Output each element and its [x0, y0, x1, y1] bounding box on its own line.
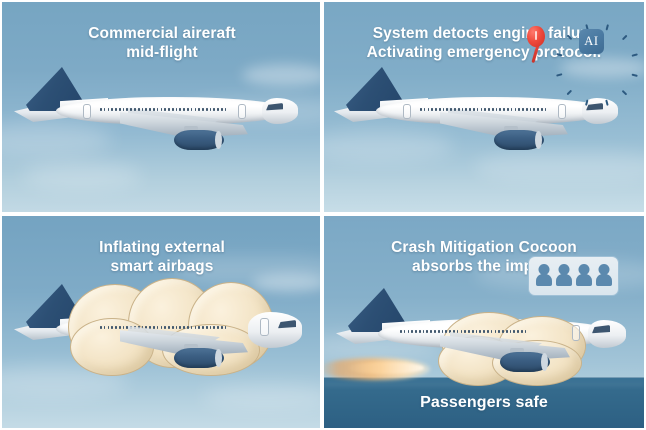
- cabin-window: [477, 108, 479, 111]
- cabin-window: [521, 330, 523, 333]
- cabin-window: [100, 326, 102, 329]
- cabin-window: [472, 330, 474, 333]
- cabin-window: [435, 108, 437, 111]
- cabin-window: [161, 326, 163, 329]
- cabin-window: [191, 108, 193, 111]
- cabin-windows: [100, 326, 226, 329]
- cabin-window: [198, 326, 200, 329]
- cabin-window: [458, 108, 460, 111]
- passenger-icon: [556, 264, 572, 289]
- cabin-window: [491, 330, 493, 333]
- cabin-window: [164, 108, 166, 111]
- panel-4-crash-mitigation-cocoon: Crash Mitigation Cocoon absorbs the impa…: [324, 216, 644, 428]
- cabin-window: [533, 108, 535, 111]
- cabin-window: [518, 108, 520, 111]
- cabin-door: [558, 104, 566, 119]
- cabin-window: [537, 108, 539, 111]
- passenger-body: [556, 274, 572, 286]
- cabin-window: [172, 108, 174, 111]
- cabin-window: [507, 108, 509, 111]
- cabin-window: [473, 108, 475, 111]
- airliner: [12, 274, 312, 384]
- cabin-window: [462, 108, 464, 111]
- cabin-window: [499, 108, 501, 111]
- cloud-shape: [22, 162, 142, 190]
- cabin-window: [502, 330, 504, 333]
- storyboard-image: Commercial aireraft mid-flight System de…: [0, 0, 646, 430]
- cabin-window: [187, 326, 189, 329]
- passenger-status-panel: [528, 256, 619, 296]
- engine-intake-lip: [535, 131, 542, 149]
- panel-1-commercial-aircraft: Commercial aireraft mid-flight: [2, 2, 322, 214]
- cabin-window: [225, 326, 227, 329]
- cabin-window: [202, 326, 204, 329]
- cabin-window: [438, 330, 440, 333]
- cabin-window: [468, 330, 470, 333]
- cabin-window: [195, 326, 197, 329]
- cabin-window: [411, 330, 413, 333]
- cabin-window: [446, 108, 448, 111]
- cabin-window: [206, 108, 208, 111]
- cabin-window: [172, 326, 174, 329]
- cabin-window: [424, 108, 426, 111]
- airliner: [332, 64, 632, 164]
- cabin-window: [461, 330, 463, 333]
- cabin-windows: [400, 330, 526, 333]
- cabin-window: [487, 330, 489, 333]
- cabin-window: [157, 326, 159, 329]
- cabin-window: [111, 108, 113, 111]
- cabin-window: [476, 330, 478, 333]
- cabin-window: [439, 108, 441, 111]
- cabin-window: [506, 330, 508, 333]
- cabin-window: [145, 108, 147, 111]
- cabin-window: [545, 108, 547, 111]
- cabin-window: [161, 108, 163, 111]
- cabin-window: [225, 108, 227, 111]
- panel-3-caption: Inflating external smart airbags: [2, 238, 322, 276]
- cabin-windows: [100, 108, 226, 111]
- cabin-window: [138, 108, 140, 111]
- cabin-window: [496, 108, 498, 111]
- cabin-window: [404, 330, 406, 333]
- engine-intake-lip: [541, 353, 548, 371]
- cabin-window: [221, 108, 223, 111]
- passenger-icon: [576, 264, 592, 289]
- cabin-window: [513, 330, 515, 333]
- cabin-window: [168, 108, 170, 111]
- cabin-window: [428, 108, 430, 111]
- cabin-window: [525, 330, 527, 333]
- cabin-window: [157, 108, 159, 111]
- cabin-window: [153, 108, 155, 111]
- cabin-door: [83, 104, 91, 119]
- cabin-window: [115, 108, 117, 111]
- airliner: [12, 64, 302, 164]
- cabin-door: [572, 325, 580, 341]
- cabin-window: [183, 108, 185, 111]
- cabin-window: [119, 326, 121, 329]
- cabin-window: [484, 108, 486, 111]
- cabin-window: [142, 108, 144, 111]
- panel-divider-horizontal: [0, 212, 646, 216]
- cabin-window: [445, 330, 447, 333]
- cabin-window: [168, 326, 170, 329]
- cabin-window: [100, 108, 102, 111]
- cabin-window: [469, 108, 471, 111]
- cabin-window: [434, 330, 436, 333]
- panel-4-bottom-caption: Passengers safe: [324, 393, 644, 412]
- passenger-body: [576, 274, 592, 286]
- engine-intake-lip: [215, 131, 222, 149]
- cabin-window: [465, 108, 467, 111]
- cabin-window: [134, 108, 136, 111]
- cabin-window: [492, 108, 494, 111]
- cabin-window: [119, 108, 121, 111]
- cabin-window: [217, 108, 219, 111]
- cabin-window: [431, 108, 433, 111]
- cabin-window: [426, 330, 428, 333]
- cabin-window: [187, 108, 189, 111]
- cabin-window: [179, 108, 181, 111]
- cabin-window: [419, 330, 421, 333]
- passenger-icon: [596, 264, 612, 289]
- engine-intake-lip: [215, 349, 222, 367]
- cabin-window: [179, 326, 181, 329]
- cabin-window: [111, 326, 113, 329]
- cabin-window: [183, 326, 185, 329]
- cabin-window: [526, 108, 528, 111]
- cabin-window: [195, 108, 197, 111]
- cabin-window: [206, 326, 208, 329]
- cabin-window: [517, 330, 519, 333]
- cabin-window: [104, 326, 106, 329]
- cabin-window: [479, 330, 481, 333]
- ai-badge-label: AI: [584, 34, 598, 49]
- passenger-body: [596, 274, 612, 286]
- cabin-window: [149, 108, 151, 111]
- cabin-window: [423, 330, 425, 333]
- cabin-window: [515, 108, 517, 111]
- cabin-window: [442, 330, 444, 333]
- cabin-window: [481, 108, 483, 111]
- passenger-icon: [536, 264, 552, 289]
- cabin-window: [450, 108, 452, 111]
- cabin-window: [530, 108, 532, 111]
- panel-2-system-detects-failure: System detocts engine failure Activating…: [324, 2, 644, 214]
- cabin-windows: [420, 108, 546, 111]
- cabin-window: [126, 108, 128, 111]
- cabin-window: [210, 108, 212, 111]
- cabin-window: [164, 326, 166, 329]
- cabin-window: [213, 326, 215, 329]
- cabin-window: [495, 330, 497, 333]
- cabin-window: [130, 108, 132, 111]
- cabin-door: [260, 318, 269, 336]
- cloud-shape: [202, 384, 322, 410]
- panel-1-caption: Commercial aireraft mid-flight: [2, 24, 322, 62]
- panel-3-inflating-airbags: Inflating external smart airbags: [2, 216, 322, 428]
- cabin-window: [108, 326, 110, 329]
- cabin-window: [104, 108, 106, 111]
- cabin-window: [415, 330, 417, 333]
- cabin-window: [153, 326, 155, 329]
- ai-badge-icon: AI: [579, 29, 604, 54]
- cabin-window: [221, 326, 223, 329]
- cabin-door: [403, 104, 411, 119]
- cabin-window: [213, 108, 215, 111]
- cabin-window: [191, 326, 193, 329]
- cabin-window: [443, 108, 445, 111]
- nose-section-exposed: [248, 312, 302, 348]
- cabin-window: [522, 108, 524, 111]
- cabin-window: [176, 108, 178, 111]
- cabin-window: [176, 326, 178, 329]
- cabin-window: [126, 326, 128, 329]
- cabin-window: [430, 330, 432, 333]
- passenger-body: [536, 274, 552, 286]
- cabin-window: [115, 326, 117, 329]
- cabin-window: [454, 108, 456, 111]
- flame-core: [346, 362, 424, 374]
- cabin-window: [464, 330, 466, 333]
- cabin-window: [488, 108, 490, 111]
- cabin-window: [123, 108, 125, 111]
- cabin-window: [202, 108, 204, 111]
- cabin-window: [210, 326, 212, 329]
- alert-beacon-slot: [535, 31, 537, 40]
- cabin-window: [511, 108, 513, 111]
- cabin-window: [217, 326, 219, 329]
- cabin-window: [541, 108, 543, 111]
- cabin-window: [498, 330, 500, 333]
- cabin-window: [483, 330, 485, 333]
- nose-cone: [262, 98, 298, 124]
- cabin-window: [198, 108, 200, 111]
- nose-cone: [588, 320, 626, 348]
- cabin-window: [503, 108, 505, 111]
- cabin-window: [400, 330, 402, 333]
- cabin-window: [408, 330, 410, 333]
- cabin-window: [510, 330, 512, 333]
- cabin-window: [108, 108, 110, 111]
- cabin-door: [238, 104, 246, 119]
- cabin-window: [420, 108, 422, 111]
- cabin-window: [123, 326, 125, 329]
